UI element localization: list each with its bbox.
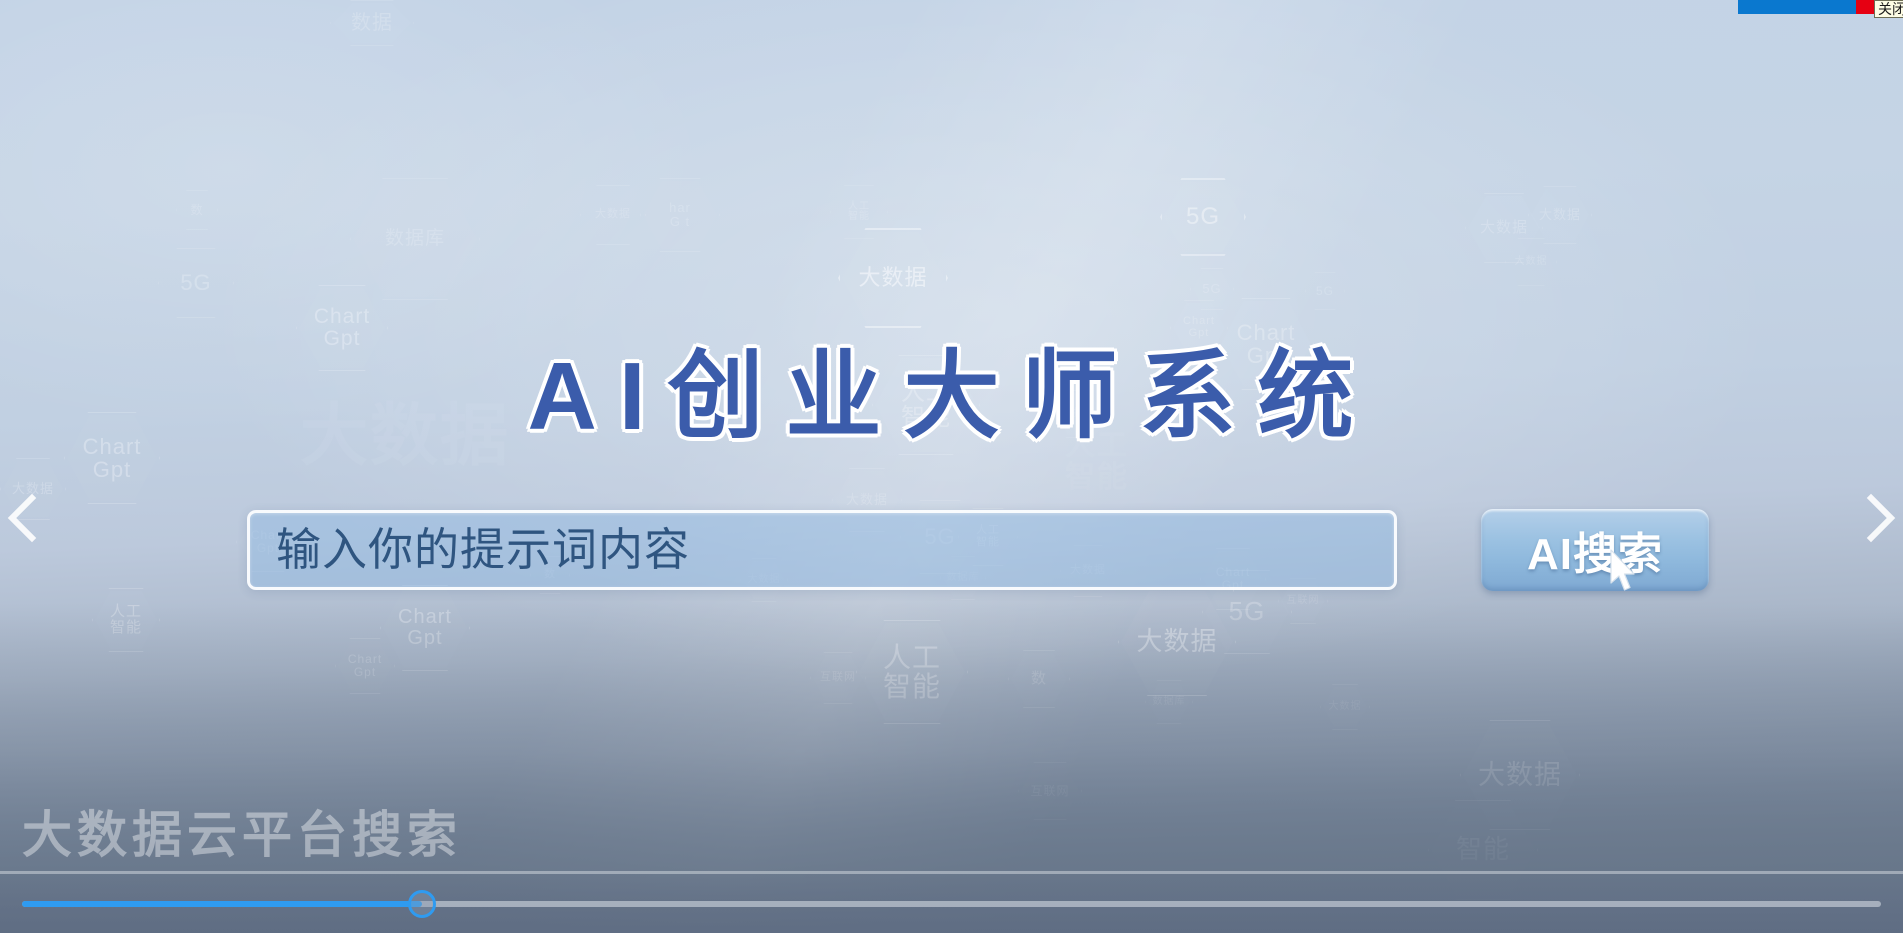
search-input[interactable] bbox=[247, 510, 1397, 590]
chevron-left-icon bbox=[2, 490, 46, 546]
progress-track[interactable] bbox=[22, 901, 1881, 907]
carousel-prev-button[interactable] bbox=[2, 490, 46, 546]
progress-knob[interactable] bbox=[408, 890, 436, 918]
chevron-right-icon bbox=[1857, 490, 1901, 546]
carousel-next-button[interactable] bbox=[1857, 490, 1901, 546]
progress-fill bbox=[22, 901, 422, 907]
close-tooltip: 关闭 bbox=[1874, 0, 1903, 18]
window-titlebar-strip bbox=[1738, 0, 1856, 14]
page-title: AI创业大师系统 bbox=[0, 318, 1903, 457]
ai-search-button[interactable]: AI搜索 bbox=[1481, 509, 1709, 591]
app-root: 数据库大数据har G t人工 智能大数据5G大数据5G5GChart GptC… bbox=[0, 0, 1903, 933]
progress-bar-area bbox=[0, 871, 1903, 933]
search-row: AI搜索 bbox=[247, 505, 1709, 595]
background-gradient bbox=[0, 0, 1903, 933]
